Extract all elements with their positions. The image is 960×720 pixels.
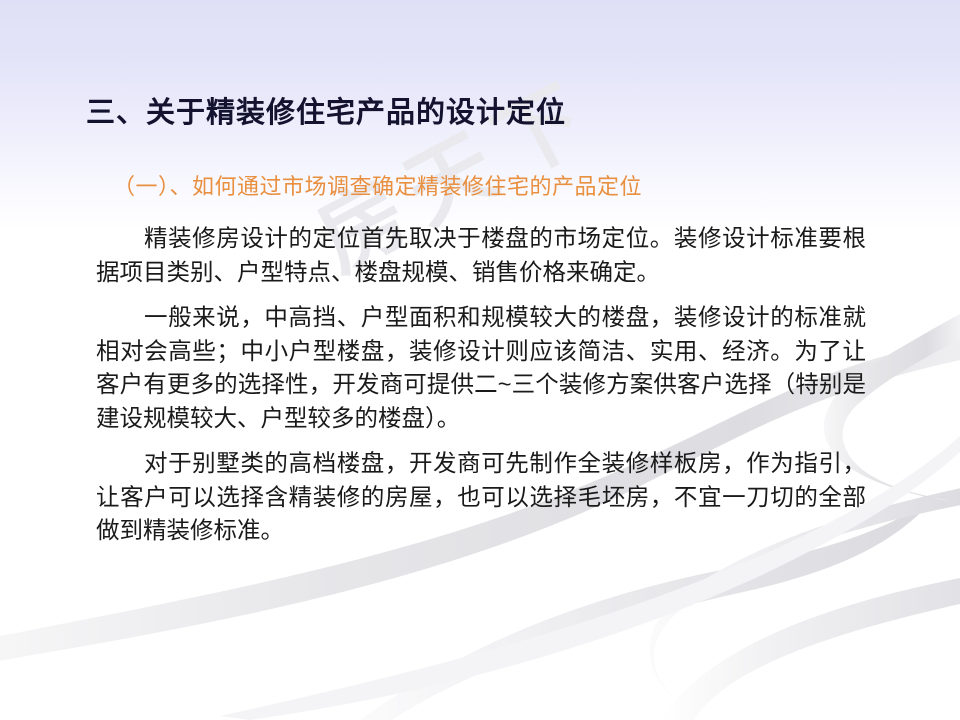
- body-text-block: 精装修房设计的定位首先取决于楼盘的市场定位。装修设计标准要根据项目类别、户型特点…: [96, 222, 866, 548]
- slide-canvas: 房天下 三、关于精装修住宅产品的设计定位 （一）、如何通过市场调查确定精装修住宅…: [0, 0, 960, 720]
- section-subtitle: （一）、如何通过市场调查确定精装修住宅的产品定位: [113, 169, 642, 201]
- slide-content: 三、关于精装修住宅产品的设计定位 （一）、如何通过市场调查确定精装修住宅的产品定…: [0, 0, 960, 720]
- paragraph-1: 精装修房设计的定位首先取决于楼盘的市场定位。装修设计标准要根据项目类别、户型特点…: [96, 222, 866, 289]
- paragraph-2: 一般来说，中高挡、户型面积和规模较大的楼盘，装修设计的标准就相对会高些；中小户型…: [96, 301, 866, 435]
- paragraph-3: 对于别墅类的高档楼盘，开发商可先制作全装修样板房，作为指引，让客户可以选择含精装…: [96, 447, 866, 548]
- page-title: 三、关于精装修住宅产品的设计定位: [86, 89, 566, 131]
